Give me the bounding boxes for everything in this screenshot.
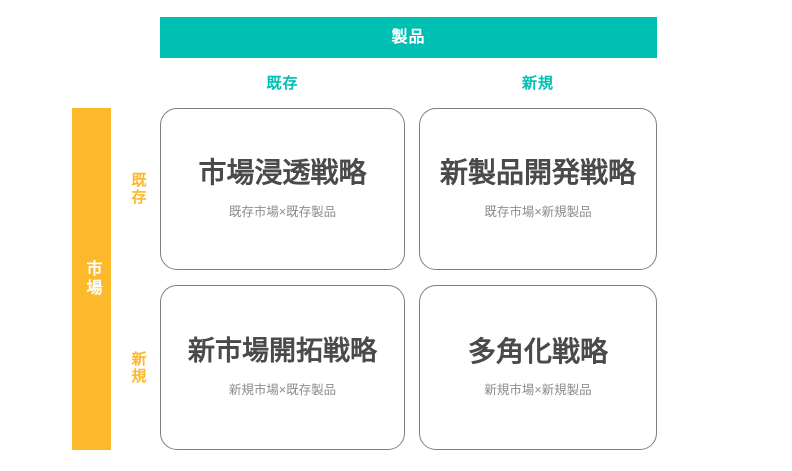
- quadrant-market-penetration[interactable]: 市場浸透戦略 既存市場×既存製品: [160, 108, 405, 270]
- quadrant-subtitle: 新規市場×既存製品: [229, 383, 336, 398]
- quadrant-title: 新市場開拓戦略: [188, 337, 377, 367]
- row-header-new-label: 新規: [131, 351, 146, 385]
- quadrant-title: 新製品開発戦略: [440, 158, 636, 189]
- quadrant-title: 多角化戦略: [468, 337, 608, 368]
- row-header-existing-label: 既存: [131, 172, 146, 206]
- quadrant-diversification[interactable]: 多角化戦略 新規市場×新規製品: [419, 285, 657, 450]
- row-header-existing: 既存: [124, 108, 152, 270]
- column-header-existing: 既存: [160, 70, 405, 94]
- market-axis-label: 市場: [84, 260, 100, 298]
- quadrant-product-development[interactable]: 新製品開発戦略 既存市場×新規製品: [419, 108, 657, 270]
- product-axis-bar: 製品: [160, 17, 657, 58]
- column-header-new-label: 新規: [522, 72, 554, 93]
- product-axis-label: 製品: [391, 30, 425, 46]
- quadrant-market-development[interactable]: 新市場開拓戦略 新規市場×既存製品: [160, 285, 405, 450]
- column-header-existing-label: 既存: [266, 72, 298, 93]
- quadrant-subtitle: 既存市場×既存製品: [229, 205, 336, 220]
- quadrant-subtitle: 新規市場×新規製品: [484, 383, 591, 398]
- column-header-new: 新規: [419, 70, 657, 94]
- ansoff-matrix-diagram: 製品 既存 新規 市場 既存 新規 市場浸透戦略 既存市場×既存製品 新製品開発…: [0, 0, 792, 471]
- row-header-new: 新規: [124, 285, 152, 450]
- quadrant-subtitle: 既存市場×新規製品: [484, 205, 591, 220]
- quadrant-title: 市場浸透戦略: [198, 158, 366, 189]
- market-axis-bar: 市場: [72, 108, 111, 450]
